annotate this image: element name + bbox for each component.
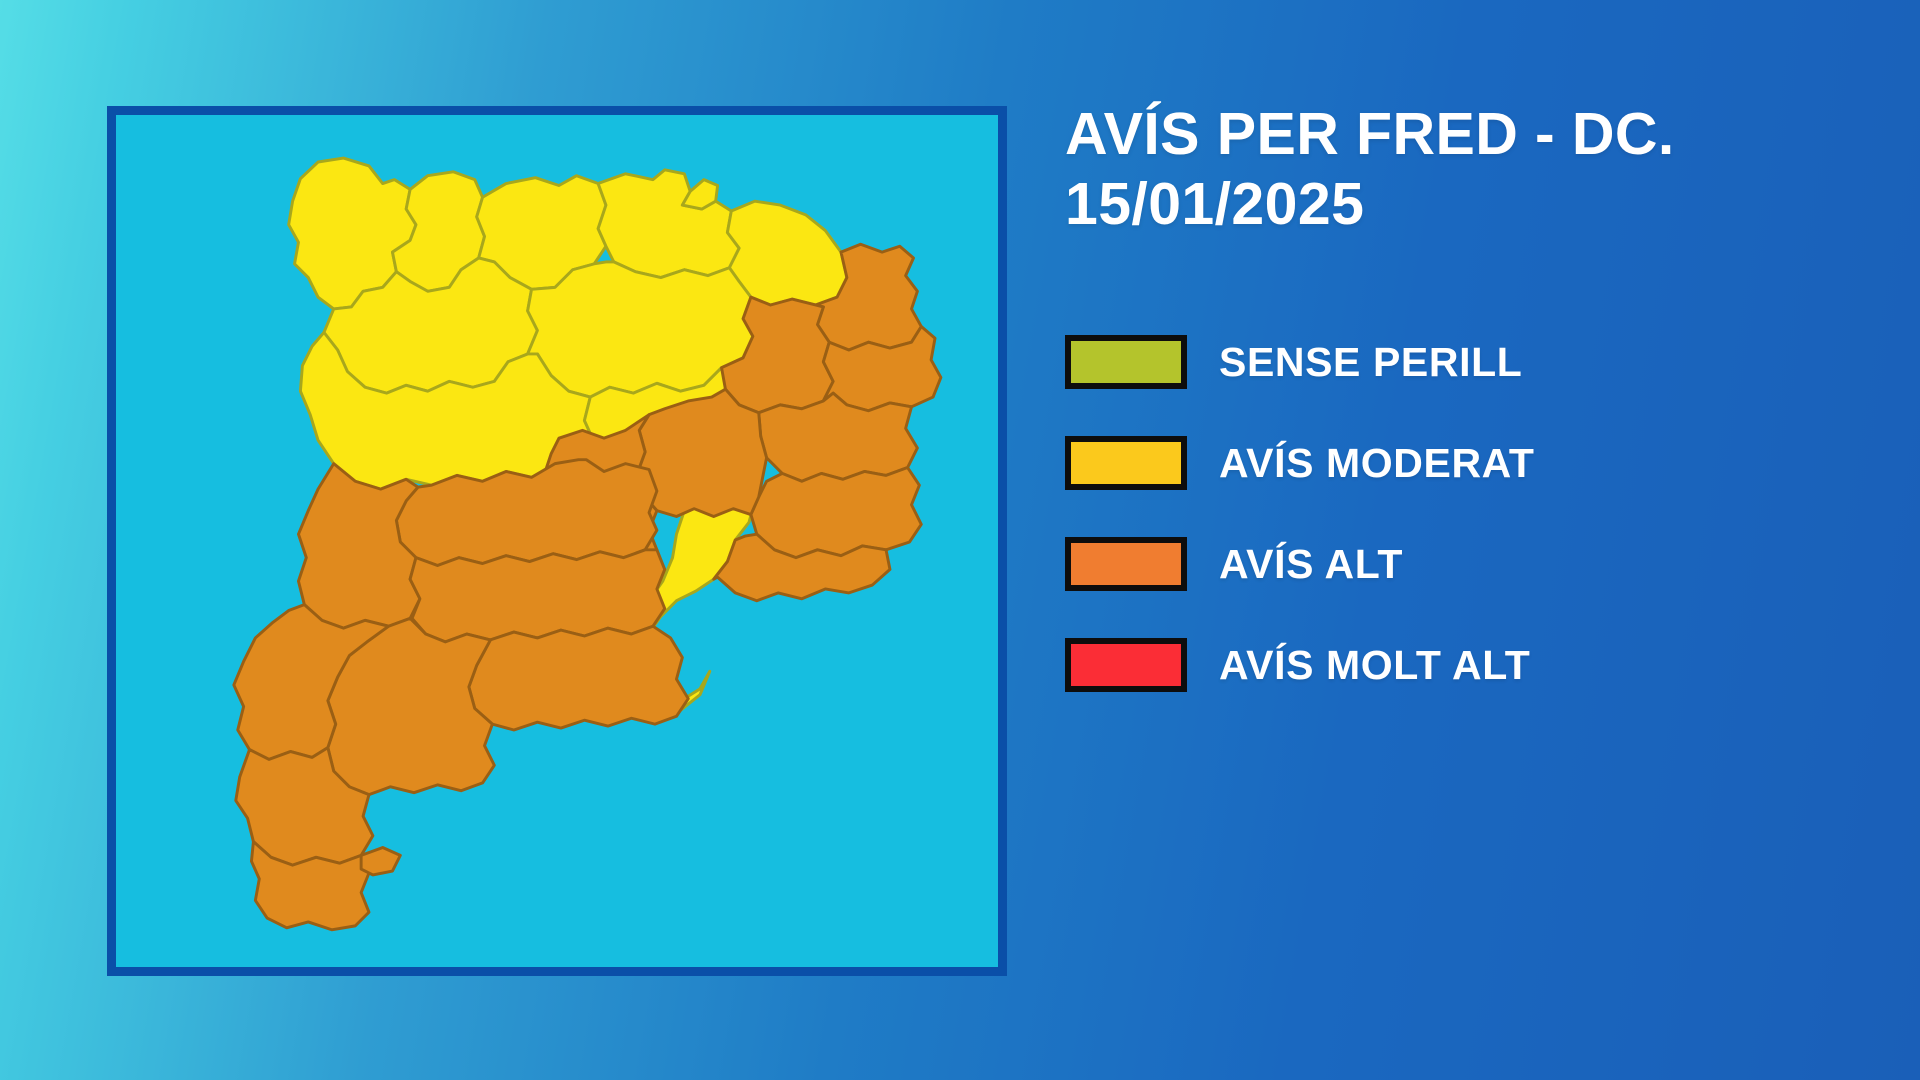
comarca-la-selva — [759, 393, 918, 481]
legend-swatch-avis-molt-alt — [1065, 638, 1187, 692]
legend-item-sense-perill: SENSE PERILL — [1065, 335, 1865, 389]
comarca-conca — [410, 550, 665, 642]
infographic-root: AVÍS PER FRED - DC. 15/01/2025 SENSE PER… — [0, 0, 1920, 1080]
info-column: AVÍS PER FRED - DC. 15/01/2025 SENSE PER… — [1065, 100, 1865, 692]
legend-swatch-avis-moderat — [1065, 436, 1187, 490]
page-title: AVÍS PER FRED - DC. 15/01/2025 — [1065, 100, 1865, 239]
legend-swatch-sense-perill — [1065, 335, 1187, 389]
legend-swatch-avis-alt — [1065, 537, 1187, 591]
legend-label-avis-moderat: AVÍS MODERAT — [1219, 440, 1534, 487]
comarca-alt-camp — [469, 626, 688, 730]
comarca-maresme — [751, 468, 921, 558]
legend: SENSE PERILL AVÍS MODERAT AVÍS ALT AVÍS … — [1065, 335, 1865, 692]
legend-item-avis-molt-alt: AVÍS MOLT ALT — [1065, 638, 1865, 692]
legend-label-avis-alt: AVÍS ALT — [1219, 541, 1403, 588]
legend-label-sense-perill: SENSE PERILL — [1219, 339, 1522, 386]
legend-item-avis-moderat: AVÍS MODERAT — [1065, 436, 1865, 490]
legend-item-avis-alt: AVÍS ALT — [1065, 537, 1865, 591]
map-panel — [107, 106, 1007, 976]
catalonia-warning-map — [116, 115, 998, 967]
legend-label-avis-molt-alt: AVÍS MOLT ALT — [1219, 642, 1530, 689]
